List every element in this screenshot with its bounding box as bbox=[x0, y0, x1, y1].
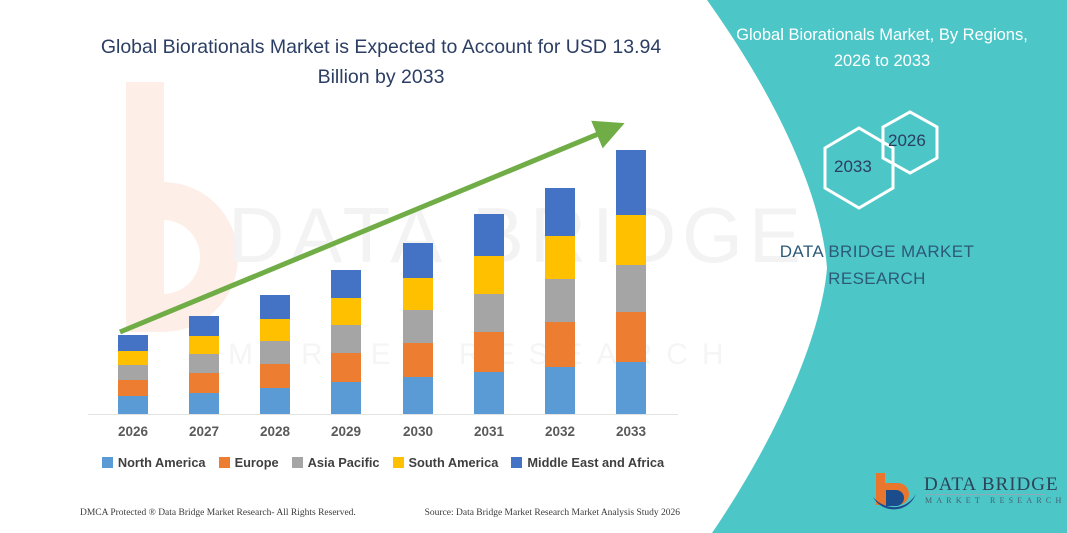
data-bridge-logo: DATA BRIDGE MARKET RESEARCH bbox=[872, 470, 1052, 518]
bar-segment-2030-asia-pacific[interactable] bbox=[403, 310, 433, 343]
legend-item-europe[interactable]: Europe bbox=[219, 455, 279, 470]
bar-segment-2031-south-america[interactable] bbox=[474, 256, 504, 294]
logo-subtitle: MARKET RESEARCH bbox=[925, 496, 1065, 505]
legend-item-middle-east-and-africa[interactable]: Middle East and Africa bbox=[511, 455, 664, 470]
bar-segment-2027-asia-pacific[interactable] bbox=[189, 354, 219, 373]
bar-2031[interactable] bbox=[474, 214, 504, 414]
trend-arrow-icon bbox=[0, 0, 700, 533]
bar-segment-2028-europe[interactable] bbox=[260, 364, 290, 388]
bar-segment-2033-asia-pacific[interactable] bbox=[616, 265, 646, 312]
bar-segment-2027-europe[interactable] bbox=[189, 373, 219, 393]
stacked-bar-chart: 20262027202820292030203120322033 bbox=[0, 0, 700, 533]
bar-segment-2027-north-america[interactable] bbox=[189, 393, 219, 414]
bar-segment-2032-europe[interactable] bbox=[545, 322, 575, 367]
bar-segment-2031-north-america[interactable] bbox=[474, 372, 504, 414]
legend-swatch-icon bbox=[292, 457, 303, 468]
bar-segment-2026-europe[interactable] bbox=[118, 380, 148, 396]
bar-segment-2029-asia-pacific[interactable] bbox=[331, 325, 361, 353]
legend-swatch-icon bbox=[393, 457, 404, 468]
legend-label: North America bbox=[118, 455, 206, 470]
x-axis-label-2031: 2031 bbox=[459, 424, 519, 439]
hexagon-label-2033: 2033 bbox=[834, 157, 872, 177]
bar-segment-2031-middle-east-and-africa[interactable] bbox=[474, 214, 504, 256]
legend-item-asia-pacific[interactable]: Asia Pacific bbox=[292, 455, 380, 470]
bar-segment-2032-asia-pacific[interactable] bbox=[545, 279, 575, 322]
hexagon-shapes bbox=[687, 96, 1067, 226]
bar-segment-2030-north-america[interactable] bbox=[403, 377, 433, 414]
bar-segment-2032-south-america[interactable] bbox=[545, 236, 575, 279]
x-axis-label-2029: 2029 bbox=[316, 424, 376, 439]
bar-segment-2033-middle-east-and-africa[interactable] bbox=[616, 150, 646, 215]
chart-legend: North AmericaEuropeAsia PacificSouth Ame… bbox=[88, 455, 678, 470]
right-panel-heading: Global Biorationals Market, By Regions, … bbox=[717, 22, 1047, 74]
legend-item-south-america[interactable]: South America bbox=[393, 455, 499, 470]
bar-segment-2028-asia-pacific[interactable] bbox=[260, 341, 290, 364]
footer: DMCA Protected ® Data Bridge Market Rese… bbox=[80, 508, 680, 518]
x-axis-label-2028: 2028 bbox=[245, 424, 305, 439]
legend-label: Asia Pacific bbox=[308, 455, 380, 470]
bar-segment-2030-south-america[interactable] bbox=[403, 278, 433, 310]
bar-segment-2028-middle-east-and-africa[interactable] bbox=[260, 295, 290, 319]
legend-label: Europe bbox=[235, 455, 279, 470]
bar-segment-2026-south-america[interactable] bbox=[118, 351, 148, 365]
right-panel-brand-line1: DATA BRIDGE MARKET bbox=[727, 238, 1027, 265]
x-axis-label-2032: 2032 bbox=[530, 424, 590, 439]
bar-segment-2031-asia-pacific[interactable] bbox=[474, 294, 504, 332]
bar-segment-2028-south-america[interactable] bbox=[260, 319, 290, 341]
right-panel-brand-line2: RESEARCH bbox=[727, 265, 1027, 292]
bar-segment-2027-middle-east-and-africa[interactable] bbox=[189, 316, 219, 336]
bar-segment-2029-south-america[interactable] bbox=[331, 298, 361, 325]
bar-segment-2029-europe[interactable] bbox=[331, 353, 361, 382]
bar-segment-2029-middle-east-and-africa[interactable] bbox=[331, 270, 361, 298]
legend-swatch-icon bbox=[511, 457, 522, 468]
logo-divider bbox=[925, 494, 1045, 495]
bar-segment-2026-middle-east-and-africa[interactable] bbox=[118, 335, 148, 351]
right-panel-brand: DATA BRIDGE MARKET RESEARCH bbox=[727, 238, 1027, 292]
logo-mark-icon bbox=[872, 470, 922, 516]
bar-2029[interactable] bbox=[331, 270, 361, 414]
bar-segment-2030-middle-east-and-africa[interactable] bbox=[403, 243, 433, 278]
bar-segment-2026-north-america[interactable] bbox=[118, 396, 148, 414]
bar-segment-2027-south-america[interactable] bbox=[189, 336, 219, 354]
footer-copyright: DMCA Protected ® Data Bridge Market Rese… bbox=[80, 508, 356, 518]
bar-segment-2033-europe[interactable] bbox=[616, 312, 646, 362]
bar-segment-2030-europe[interactable] bbox=[403, 343, 433, 377]
bar-segment-2029-north-america[interactable] bbox=[331, 382, 361, 414]
infographic-page: DATA BRIDGE MARKET RESEARCH Global Biora… bbox=[0, 0, 1067, 533]
bar-segment-2032-north-america[interactable] bbox=[545, 367, 575, 414]
x-axis-label-2033: 2033 bbox=[601, 424, 661, 439]
logo-title: DATA BRIDGE bbox=[924, 474, 1059, 496]
x-axis-label-2026: 2026 bbox=[103, 424, 163, 439]
footer-source: Source: Data Bridge Market Research Mark… bbox=[425, 508, 680, 518]
bar-segment-2028-north-america[interactable] bbox=[260, 388, 290, 414]
bar-segment-2026-asia-pacific[interactable] bbox=[118, 365, 148, 380]
bar-2032[interactable] bbox=[545, 188, 575, 414]
legend-label: Middle East and Africa bbox=[527, 455, 664, 470]
bar-segment-2031-europe[interactable] bbox=[474, 332, 504, 372]
chart-baseline bbox=[88, 414, 678, 415]
bar-2027[interactable] bbox=[189, 316, 219, 414]
bar-2033[interactable] bbox=[616, 150, 646, 414]
legend-item-north-america[interactable]: North America bbox=[102, 455, 206, 470]
bar-segment-2033-south-america[interactable] bbox=[616, 215, 646, 265]
legend-label: South America bbox=[409, 455, 499, 470]
right-panel: Global Biorationals Market, By Regions, … bbox=[687, 0, 1067, 533]
legend-swatch-icon bbox=[102, 457, 113, 468]
hexagon-label-2026: 2026 bbox=[888, 131, 926, 151]
hexagon-badges: 2026 2033 bbox=[687, 96, 1067, 216]
legend-swatch-icon bbox=[219, 457, 230, 468]
bar-segment-2033-north-america[interactable] bbox=[616, 362, 646, 414]
x-axis-label-2027: 2027 bbox=[174, 424, 234, 439]
bar-2030[interactable] bbox=[403, 243, 433, 414]
bar-2026[interactable] bbox=[118, 335, 148, 414]
x-axis-label-2030: 2030 bbox=[388, 424, 448, 439]
bar-segment-2032-middle-east-and-africa[interactable] bbox=[545, 188, 575, 236]
bar-2028[interactable] bbox=[260, 295, 290, 414]
